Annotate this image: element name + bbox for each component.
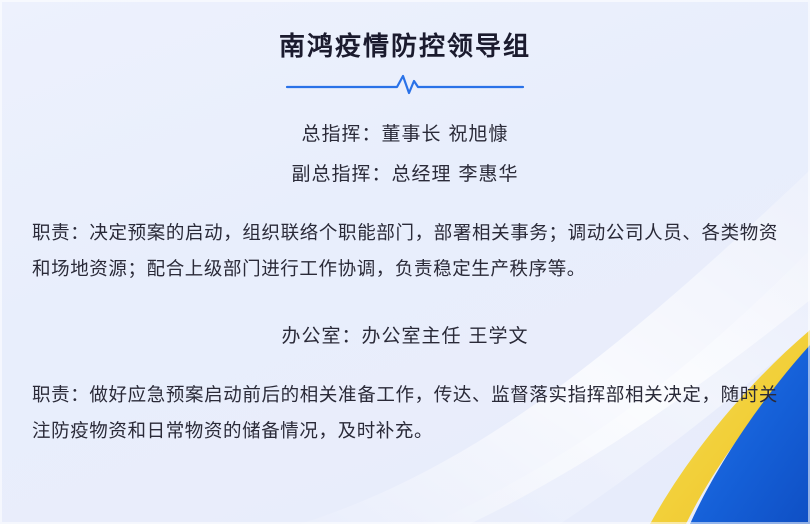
leadership-block: 总指挥：董事长 祝旭慷 副总指挥：总经理 李惠华 — [30, 125, 780, 184]
page-title: 南鸿疫情防控领导组 — [30, 0, 780, 63]
duty-paragraph-office: 职责：做好应急预案启动前后的相关准备工作，传达、监督落实指挥部相关决定，随时关注… — [30, 378, 780, 450]
duty-paragraph-command: 职责：决定预案的启动，组织联络个职能部门，部署相关事务；调动公司人员、各类物资和… — [30, 216, 780, 288]
poster-content: 南鸿疫情防控领导组 总指挥：董事长 祝旭慷 副总指挥：总经理 李惠华 职责：决定… — [0, 0, 810, 524]
office-block: 办公室：办公室主任 王学文 — [30, 321, 780, 348]
divider — [30, 73, 780, 95]
heartbeat-line-icon — [285, 73, 525, 95]
office-director-line: 办公室：办公室主任 王学文 — [30, 321, 780, 348]
chief-commander-line: 总指挥：董事长 祝旭慷 — [30, 125, 780, 144]
deputy-commander-line: 副总指挥：总经理 李惠华 — [30, 165, 780, 184]
poster-canvas: 南鸿疫情防控领导组 总指挥：董事长 祝旭慷 副总指挥：总经理 李惠华 职责：决定… — [0, 0, 810, 524]
